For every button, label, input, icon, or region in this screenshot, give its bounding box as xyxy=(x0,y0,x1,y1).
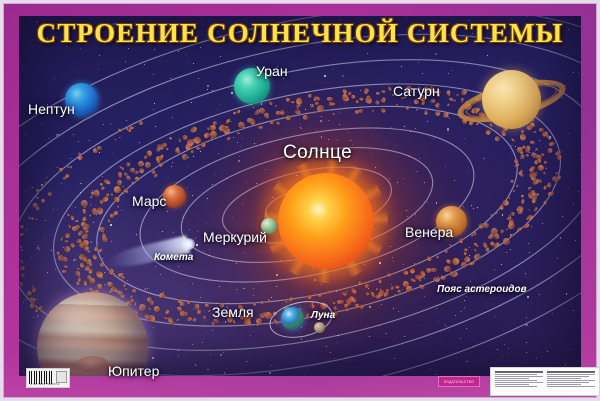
pub-line xyxy=(495,384,529,385)
label-moon: Луна xyxy=(311,310,335,321)
publisher-info-card xyxy=(490,367,600,396)
publisher-col-right xyxy=(547,371,595,392)
label-mars: Марс xyxy=(132,193,166,209)
pub-line xyxy=(547,376,589,377)
pub-line xyxy=(495,380,537,381)
pub-line xyxy=(495,374,537,375)
label-neptune: Нептун xyxy=(28,101,75,117)
label-mercury: Меркурий xyxy=(203,229,267,245)
publisher-col-left xyxy=(495,371,543,392)
label-sun: Солнце xyxy=(283,142,352,164)
pub-line xyxy=(547,380,595,381)
pub-line xyxy=(495,382,543,383)
pub-line xyxy=(495,376,543,377)
pub-line xyxy=(547,378,581,379)
label-jupiter: Юпитер xyxy=(108,363,159,379)
barcode-digits: 4 607049 588374 xyxy=(30,382,59,386)
label-uranus: Уран xyxy=(256,63,288,79)
solar-system-poster: Нептун Уран Сатурн Солнце Марс Меркурий … xyxy=(0,0,600,401)
label-asteroid-belt: Пояс астероидов xyxy=(437,284,527,295)
imprint-tag: ИЗДАТЕЛЬСТВО xyxy=(438,376,480,387)
label-earth: Земля xyxy=(212,304,254,320)
space-background xyxy=(19,16,581,376)
label-saturn: Сатурн xyxy=(393,83,440,99)
pub-line xyxy=(547,374,595,375)
pub-line xyxy=(495,386,537,387)
imprint-tag-text: ИЗДАТЕЛЬСТВО xyxy=(444,380,474,384)
barcode: 4 607049 588374 xyxy=(26,368,70,388)
label-venus: Венера xyxy=(405,224,453,240)
moon-body xyxy=(314,322,325,333)
pub-line xyxy=(547,382,589,383)
pub-line xyxy=(547,384,581,385)
pub-line xyxy=(547,386,595,387)
pub-line xyxy=(547,371,595,373)
planet-saturn xyxy=(482,70,541,129)
jupiter-great-red-spot xyxy=(77,356,109,373)
pub-line xyxy=(495,371,543,373)
sun-body xyxy=(278,173,374,269)
label-comet: Комета xyxy=(154,252,193,263)
page-title: СТРОЕНИЕ СОЛНЕЧНОЙ СИСТЕМЫ xyxy=(0,18,600,49)
planet-earth xyxy=(281,307,304,330)
planet-mars xyxy=(163,185,186,208)
pub-line xyxy=(495,378,529,379)
